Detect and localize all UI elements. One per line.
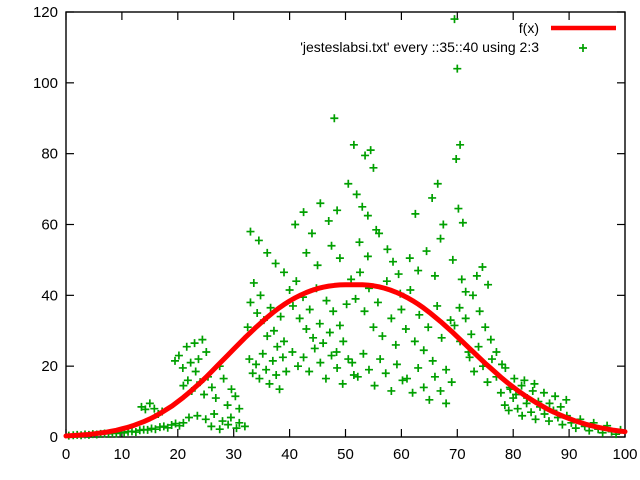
x-tick-label: 20 [169, 446, 186, 463]
x-tick-label: 80 [505, 446, 522, 463]
x-tick-label: 10 [114, 446, 131, 463]
chart-container: 020406080100120 0102030405060708090100 f… [0, 0, 640, 480]
x-tick-label: 70 [449, 446, 466, 463]
y-tick-label: 100 [33, 75, 58, 92]
legend-label-fx: f(x) [519, 20, 539, 36]
y-tick-label: 40 [41, 287, 58, 304]
x-tick-label: 100 [612, 446, 637, 463]
y-tick-label: 0 [50, 429, 58, 446]
scatter-plot-svg: 020406080100120 0102030405060708090100 f… [0, 0, 640, 480]
y-tick-label: 60 [41, 217, 58, 234]
x-tick-label: 40 [281, 446, 298, 463]
x-tick-label: 90 [561, 446, 578, 463]
y-tick-label: 120 [33, 4, 58, 21]
y-tick-label: 20 [41, 358, 58, 375]
x-tick-label: 30 [225, 446, 242, 463]
x-tick-label: 60 [393, 446, 410, 463]
x-tick-label: 0 [62, 446, 70, 463]
legend-label-datafile: 'jesteslabsi.txt' every ::35::40 using 2… [300, 39, 539, 55]
y-tick-label: 80 [41, 146, 58, 163]
x-tick-label: 50 [337, 446, 354, 463]
